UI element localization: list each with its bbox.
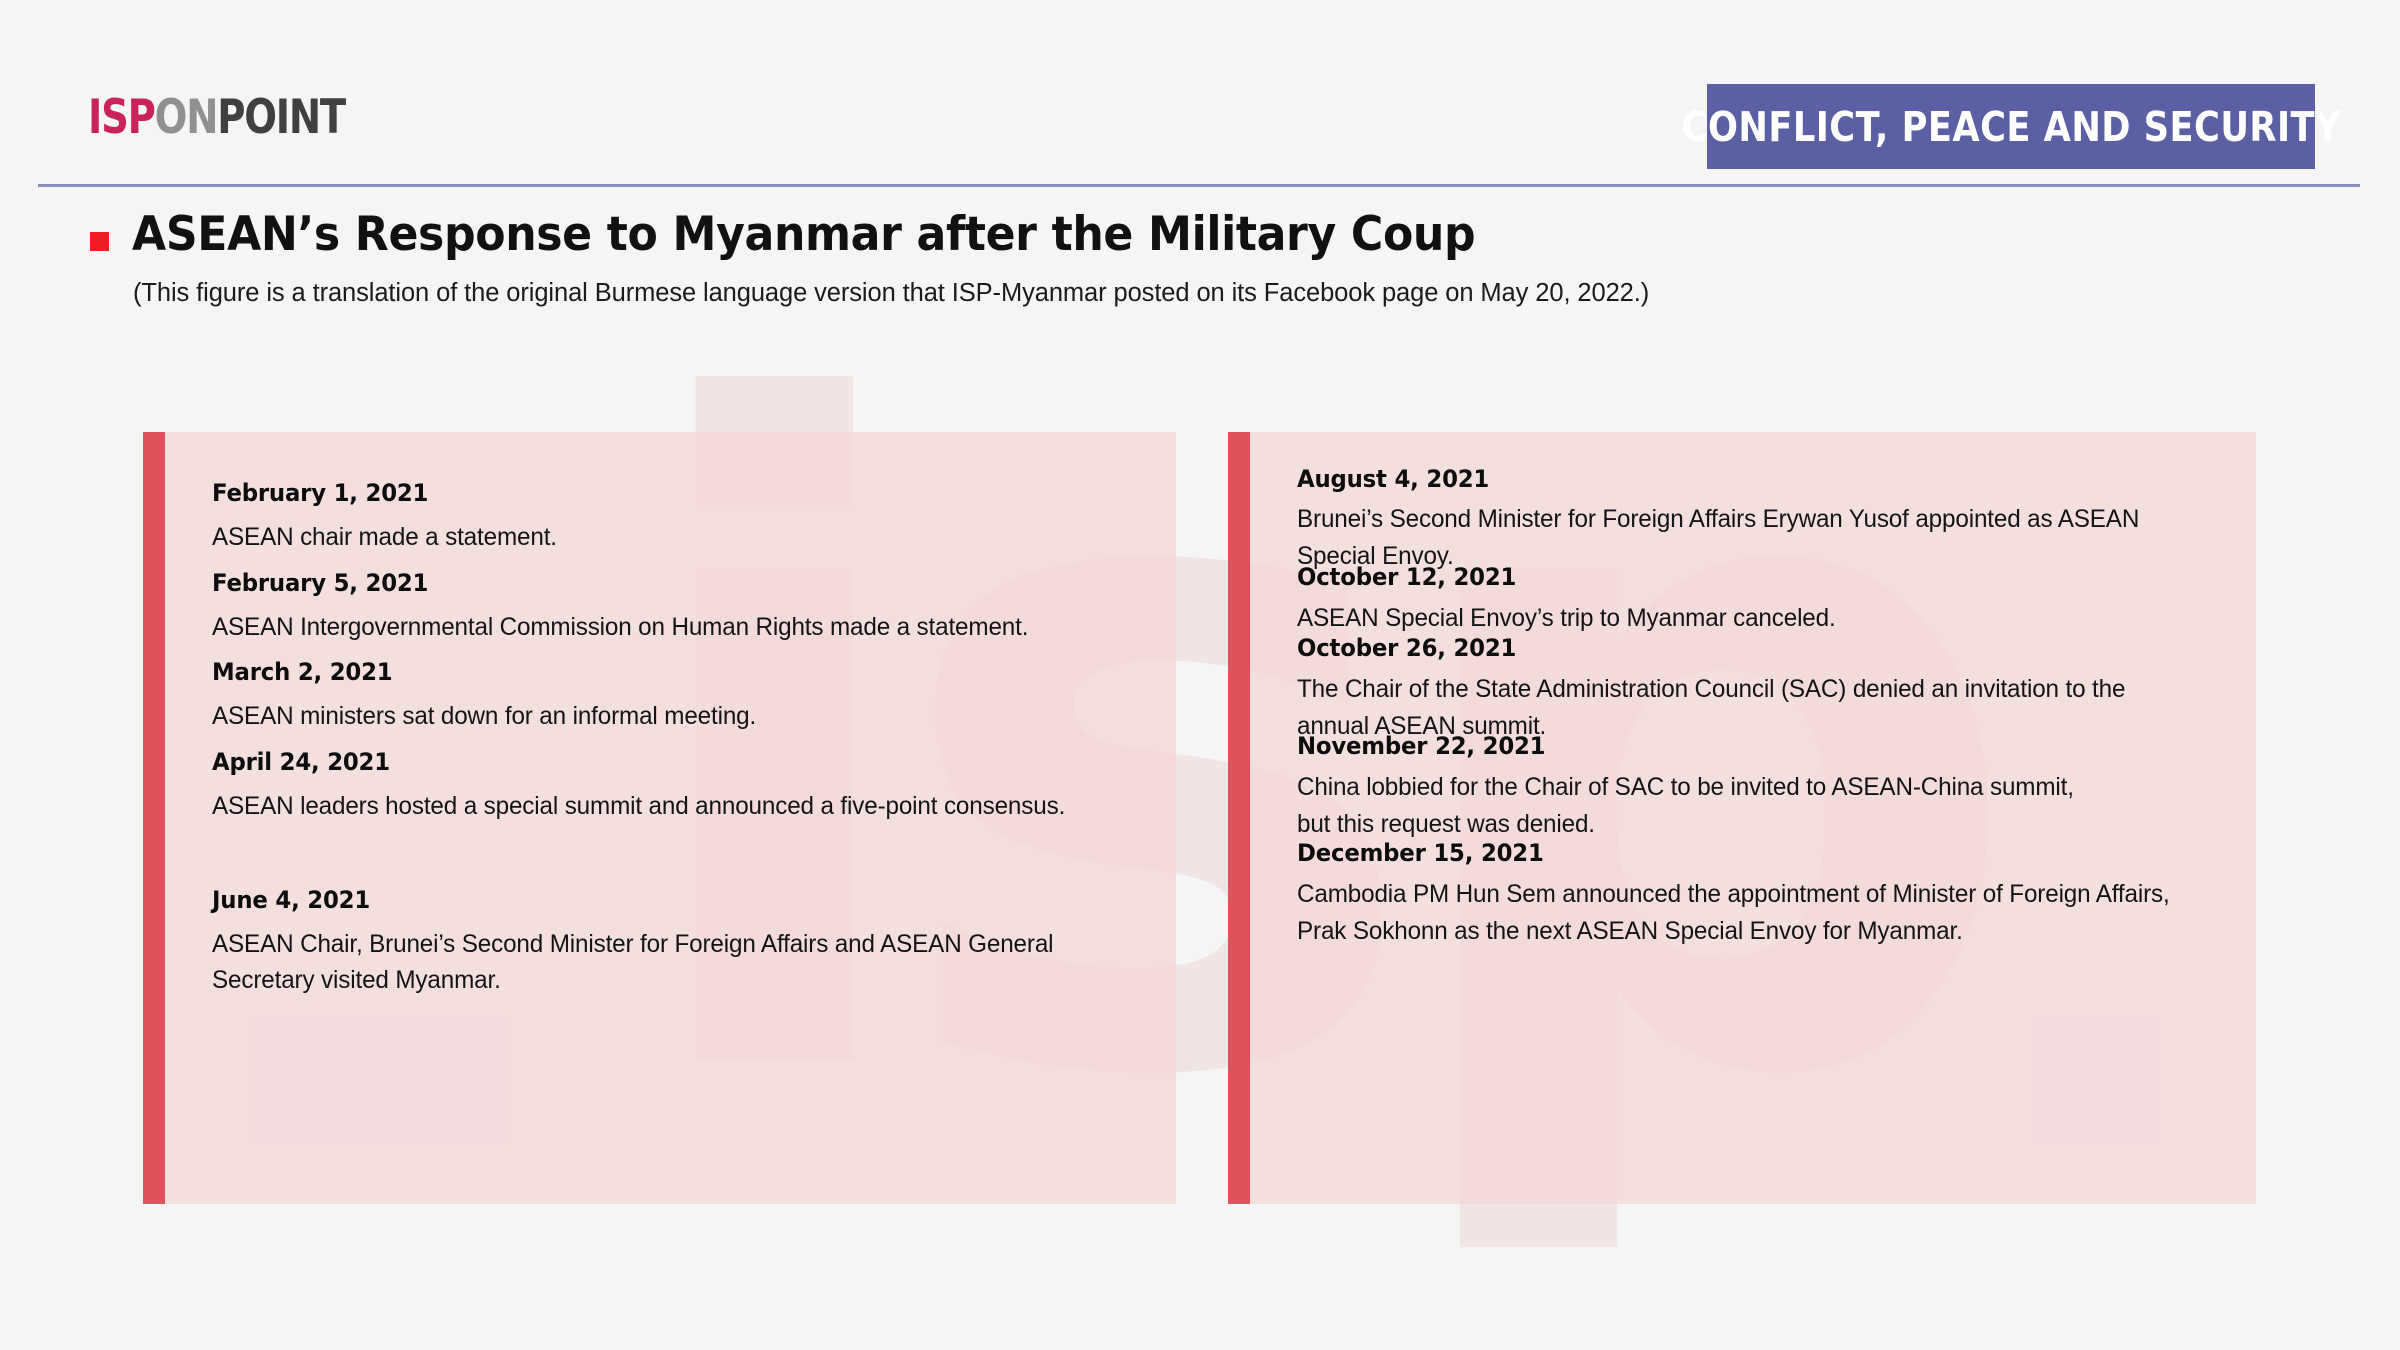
entry-text-line: Brunei’s Second Minister for Foreign Aff… — [1297, 505, 2218, 534]
entry-date: April 24, 2021 — [212, 748, 1118, 776]
logo-part-on: ON — [155, 90, 218, 145]
timeline-entry: February 1, 2021 ASEAN chair made a stat… — [212, 479, 1166, 552]
title-bullet-icon — [90, 232, 109, 251]
timeline-entry: October 26, 2021 The Chair of the State … — [1297, 634, 2246, 741]
entry-text-line: China lobbied for the Chair of SAC to be… — [1297, 773, 2218, 802]
entry-date: October 12, 2021 — [1297, 563, 2199, 591]
timeline-entry: December 15, 2021 Cambodia PM Hun Sem an… — [1297, 839, 2246, 946]
logo-part-isp: ISP — [88, 90, 155, 145]
isponpoint-logo[interactable]: ISPONPOINT — [88, 94, 345, 141]
panel-accent-bar — [143, 432, 165, 1204]
entry-date: October 26, 2021 — [1297, 634, 2199, 662]
page-header: ISPONPOINT CONFLICT, PEACE AND SECURITY — [0, 0, 2400, 186]
panel-right-body: August 4, 2021 Brunei’s Second Minister … — [1250, 432, 2256, 1204]
timeline-panel-right: August 4, 2021 Brunei’s Second Minister … — [1228, 432, 2256, 1204]
timeline-entry: November 22, 2021 China lobbied for the … — [1297, 732, 2246, 839]
entry-text-line: ASEAN Intergovernmental Commission on Hu… — [212, 613, 1137, 642]
category-banner: CONFLICT, PEACE AND SECURITY — [1707, 84, 2315, 169]
entry-text-line: Cambodia PM Hun Sem announced the appoin… — [1297, 880, 2218, 909]
timeline-entry: March 2, 2021 ASEAN ministers sat down f… — [212, 658, 1166, 731]
entry-text-line: ASEAN Chair, Brunei’s Second Minister fo… — [212, 930, 1137, 959]
entry-date: February 1, 2021 — [212, 479, 1118, 507]
entry-date: August 4, 2021 — [1297, 465, 2199, 493]
category-banner-label: CONFLICT, PEACE AND SECURITY — [1681, 103, 2340, 151]
entry-date: December 15, 2021 — [1297, 839, 2199, 867]
entry-text-line: ASEAN leaders hosted a special summit an… — [212, 792, 1137, 821]
entry-date: November 22, 2021 — [1297, 732, 2199, 760]
entry-text-line: but this request was denied. — [1297, 810, 2218, 839]
page-subtitle: (This figure is a translation of the ori… — [133, 279, 1649, 308]
header-divider — [38, 184, 2360, 187]
panel-left-body: February 1, 2021 ASEAN chair made a stat… — [165, 432, 1176, 1204]
entry-text-line: The Chair of the State Administration Co… — [1297, 675, 2218, 704]
timeline-entry: October 12, 2021 ASEAN Special Envoy’s t… — [1297, 563, 2246, 633]
entry-text-line: Prak Sokhonn as the next ASEAN Special E… — [1297, 917, 2218, 946]
entry-date: March 2, 2021 — [212, 658, 1118, 686]
entry-text-line: ASEAN chair made a statement. — [212, 523, 1137, 552]
panel-accent-bar — [1228, 432, 1250, 1204]
timeline-panel-left: February 1, 2021 ASEAN chair made a stat… — [143, 432, 1176, 1204]
entry-date: June 4, 2021 — [212, 886, 1118, 914]
logo-part-point: POINT — [217, 90, 345, 145]
timeline-entry: June 4, 2021 ASEAN Chair, Brunei’s Secon… — [212, 886, 1166, 995]
entry-text-line: ASEAN ministers sat down for an informal… — [212, 702, 1137, 731]
entry-text-line: Secretary visited Myanmar. — [212, 966, 1137, 995]
entry-text-line: ASEAN Special Envoy’s trip to Myanmar ca… — [1297, 604, 2218, 633]
page-title: ASEAN’s Response to Myanmar after the Mi… — [132, 207, 1475, 262]
timeline-entry: February 5, 2021 ASEAN Intergovernmental… — [212, 569, 1166, 642]
entry-date: February 5, 2021 — [212, 569, 1118, 597]
timeline-entry: August 4, 2021 Brunei’s Second Minister … — [1297, 465, 2246, 571]
timeline-entry: April 24, 2021 ASEAN leaders hosted a sp… — [212, 748, 1166, 821]
